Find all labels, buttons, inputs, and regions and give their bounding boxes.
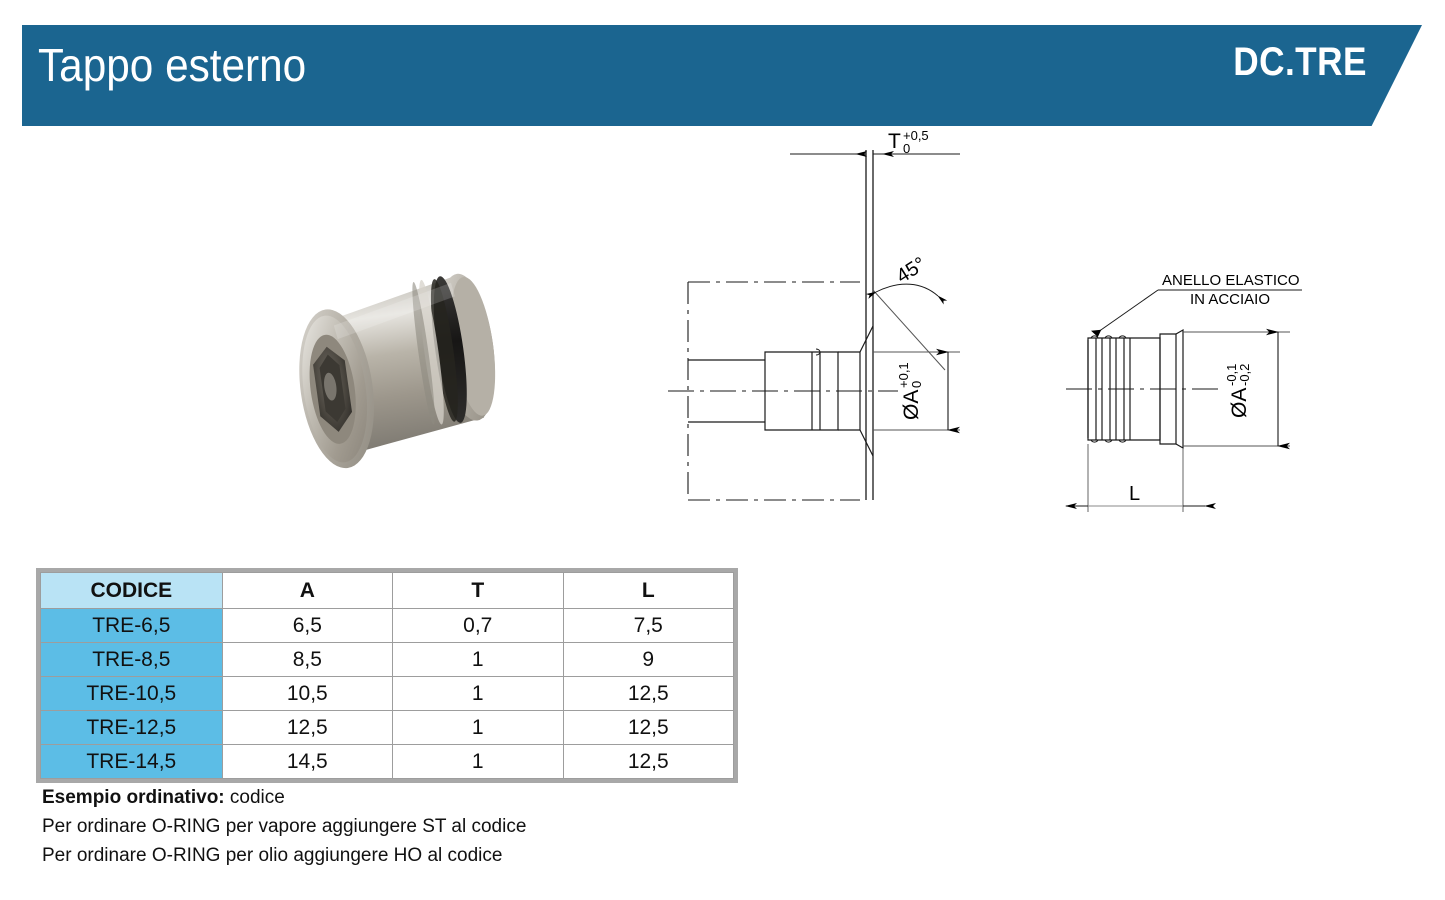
table-row: TRE-12,5 12,5 1 12,5 <box>41 711 734 745</box>
cell-a: 8,5 <box>222 643 392 677</box>
column-header-codice: CODICE <box>41 573 223 609</box>
cell-l: 12,5 <box>563 711 734 745</box>
cell-codice: TRE-6,5 <box>41 609 223 643</box>
angle-label: 45° <box>893 253 930 288</box>
cell-a: 12,5 <box>222 711 392 745</box>
cell-a: 14,5 <box>222 745 392 779</box>
column-header-a: A <box>222 573 392 609</box>
table-row: TRE-8,5 8,5 1 9 <box>41 643 734 677</box>
cell-a: 10,5 <box>222 677 392 711</box>
diameter-a-tol-lower-right: -0,2 <box>1237 364 1252 386</box>
note-line-2: Per ordinare O-RING per vapore aggiunger… <box>42 812 742 841</box>
cell-t: 1 <box>393 643 563 677</box>
table-row: TRE-10,5 10,5 1 12,5 <box>41 677 734 711</box>
cell-codice: TRE-12,5 <box>41 711 223 745</box>
cell-l: 12,5 <box>563 745 734 779</box>
cell-codice: TRE-14,5 <box>41 745 223 779</box>
cell-codice: TRE-8,5 <box>41 643 223 677</box>
column-header-l: L <box>563 573 734 609</box>
cell-l: 7,5 <box>563 609 734 643</box>
note-line-3: Per ordinare O-RING per olio aggiungere … <box>42 841 742 870</box>
note-value-esempio: codice <box>225 787 285 808</box>
cell-l: 12,5 <box>563 677 734 711</box>
table-header-row: CODICE A T L <box>41 573 734 609</box>
cell-codice: TRE-10,5 <box>41 677 223 711</box>
page-title: Tappo esterno <box>38 38 306 92</box>
column-header-t: T <box>393 573 563 609</box>
table-row: TRE-6,5 6,5 0,7 7,5 <box>41 609 734 643</box>
diameter-a-label: ØA <box>900 390 923 420</box>
spec-table: CODICE A T L TRE-6,5 6,5 0,7 7,5 TRE-8,5… <box>36 568 738 783</box>
note-line-1: Esempio ordinativo: codice <box>42 783 742 812</box>
cell-t: 1 <box>393 677 563 711</box>
t-tolerance-lower: 0 <box>903 141 910 156</box>
note-label-esempio: Esempio ordinativo: <box>42 787 225 808</box>
spec-table-body: CODICE A T L TRE-6,5 6,5 0,7 7,5 TRE-8,5… <box>41 573 734 779</box>
ordering-notes: Esempio ordinativo: codice Per ordinare … <box>42 783 742 870</box>
product-photo <box>270 240 540 490</box>
callout-line-1: ANELLO ELASTICO <box>1162 272 1300 289</box>
diameter-a-tol-lower: 0 <box>909 381 924 388</box>
section-drawing-housing: T +0,5 0 45° ØA +0,1 0 <box>660 130 1000 530</box>
t-dimension-symbol: T <box>888 130 901 153</box>
table-row: TRE-14,5 14,5 1 12,5 <box>41 745 734 779</box>
cell-t: 1 <box>393 745 563 779</box>
cell-a: 6,5 <box>222 609 392 643</box>
cell-t: 0,7 <box>393 609 563 643</box>
plug-profile-drawing: ANELLO ELASTICO IN ACCIAIO ØA -0,1 -0,2 … <box>1050 260 1350 530</box>
diameter-a-label-right: ØA <box>1228 388 1251 418</box>
length-l-label: L <box>1129 483 1140 505</box>
product-code-label: DC.TRE <box>1233 40 1367 85</box>
cell-l: 9 <box>563 643 734 677</box>
callout-line-2: IN ACCIAIO <box>1190 291 1270 308</box>
cell-t: 1 <box>393 711 563 745</box>
